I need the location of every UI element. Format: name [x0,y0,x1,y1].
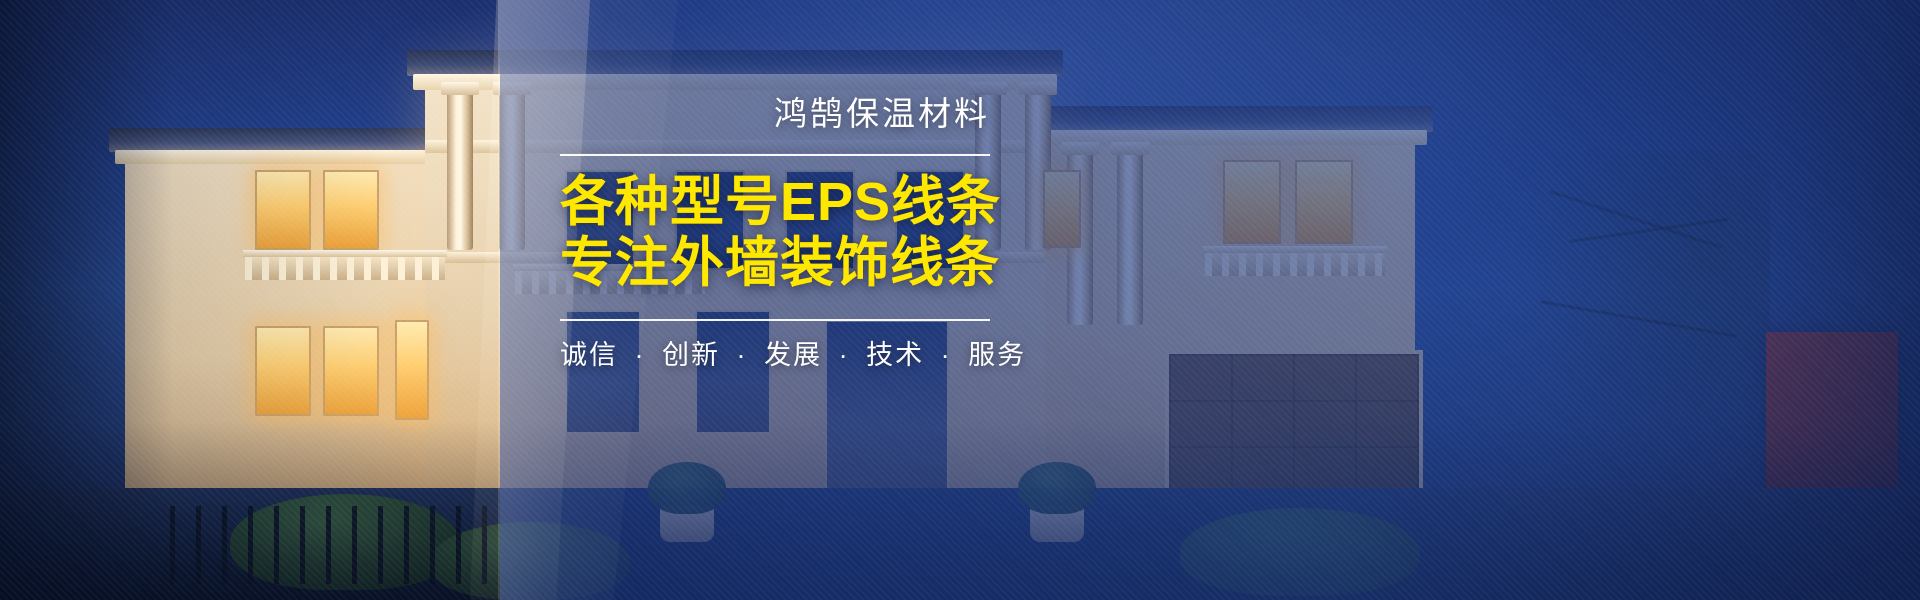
tagline-separator: · [635,340,646,370]
promo-banner: 鸿鹄保温材料 各种型号EPS线条 专注外墙装饰线条 诚信 · 创新 · 发展 ·… [0,0,1920,600]
tagline-item-4: 技术 [866,340,924,370]
tagline-item-1: 诚信 [560,340,618,370]
headline-line-1: 各种型号EPS线条 [560,172,990,232]
tagline: 诚信 · 创新 · 发展 · 技术 · 服务 [560,339,990,371]
headline-line-2: 专注外墙装饰线条 [560,233,990,293]
tagline-item-3: 发展 [764,340,822,370]
banner-copy: 鸿鹄保温材料 各种型号EPS线条 专注外墙装饰线条 诚信 · 创新 · 发展 ·… [560,96,990,372]
tagline-separator: · [839,340,850,370]
tagline-separator: · [941,340,952,370]
headline: 各种型号EPS线条 专注外墙装饰线条 [560,172,990,293]
tagline-separator: · [737,340,748,370]
tagline-item-2: 创新 [662,340,720,370]
divider-top [560,154,990,156]
divider-bottom [560,319,990,321]
company-name: 鸿鹄保温材料 [560,96,990,132]
tagline-item-5: 服务 [968,340,1026,370]
